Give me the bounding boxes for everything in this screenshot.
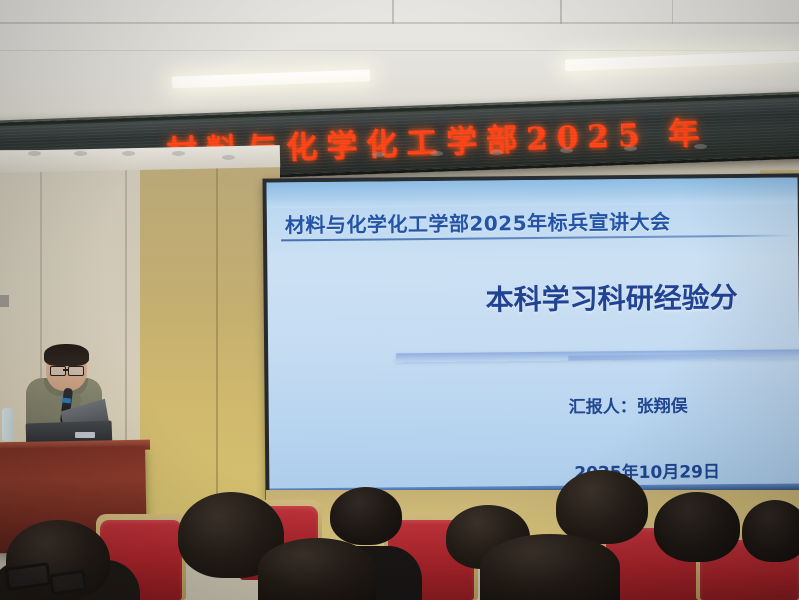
wall-panel-center [140, 158, 280, 538]
downlight-icon [222, 155, 235, 160]
downlight-icon [490, 150, 503, 155]
audience-head [330, 487, 402, 545]
glasses-icon [50, 366, 66, 376]
wall-seam [125, 155, 127, 485]
slide-presenter-text: 汇报人：张翔俣 [569, 390, 799, 417]
downlight-icon [122, 151, 135, 156]
downlight-icon [694, 144, 707, 149]
slide-title-text: 本科学习科研经验分 [485, 275, 799, 318]
ceiling-panel-gap [672, 0, 673, 24]
ceiling-panel-gap [392, 0, 394, 24]
ceiling-seam [0, 50, 799, 51]
ceiling-panel-gap [560, 0, 562, 24]
audience-head [742, 500, 799, 562]
wall-fixture [0, 295, 9, 307]
audience-head [480, 534, 620, 600]
audience-head [556, 470, 648, 544]
downlight-icon [372, 152, 385, 157]
slide-header-text: 材料与化学化工学部2025年标兵宣讲大会 [285, 204, 799, 238]
downlight-icon [560, 148, 573, 153]
downlight-icon [28, 151, 41, 156]
downlight-icon [172, 151, 185, 156]
downlight-icon [74, 151, 87, 156]
ceiling-seam [0, 22, 799, 24]
glasses-bridge [63, 369, 69, 371]
lecture-hall-photo: 材料与化学化工学部2025 年 材料与化学化工学部2025年标兵宣讲大会 本科学… [0, 0, 799, 600]
downlight-icon [624, 146, 637, 151]
projection-screen: 材料与化学化工学部2025年标兵宣讲大会 本科学习科研经验分 汇报人：张翔俣 2… [267, 177, 799, 495]
audience-head [654, 492, 740, 562]
glasses-icon [68, 366, 84, 376]
wall-seam [216, 160, 218, 520]
speaker-hair [44, 344, 89, 366]
slide-top-band [267, 177, 798, 208]
slide-decorative-ribbon [568, 353, 799, 360]
audience-head [258, 538, 376, 600]
downlight-icon [430, 151, 443, 156]
laptop-sticker [75, 432, 95, 438]
microphone-band [62, 397, 72, 403]
water-bottle [2, 408, 14, 441]
